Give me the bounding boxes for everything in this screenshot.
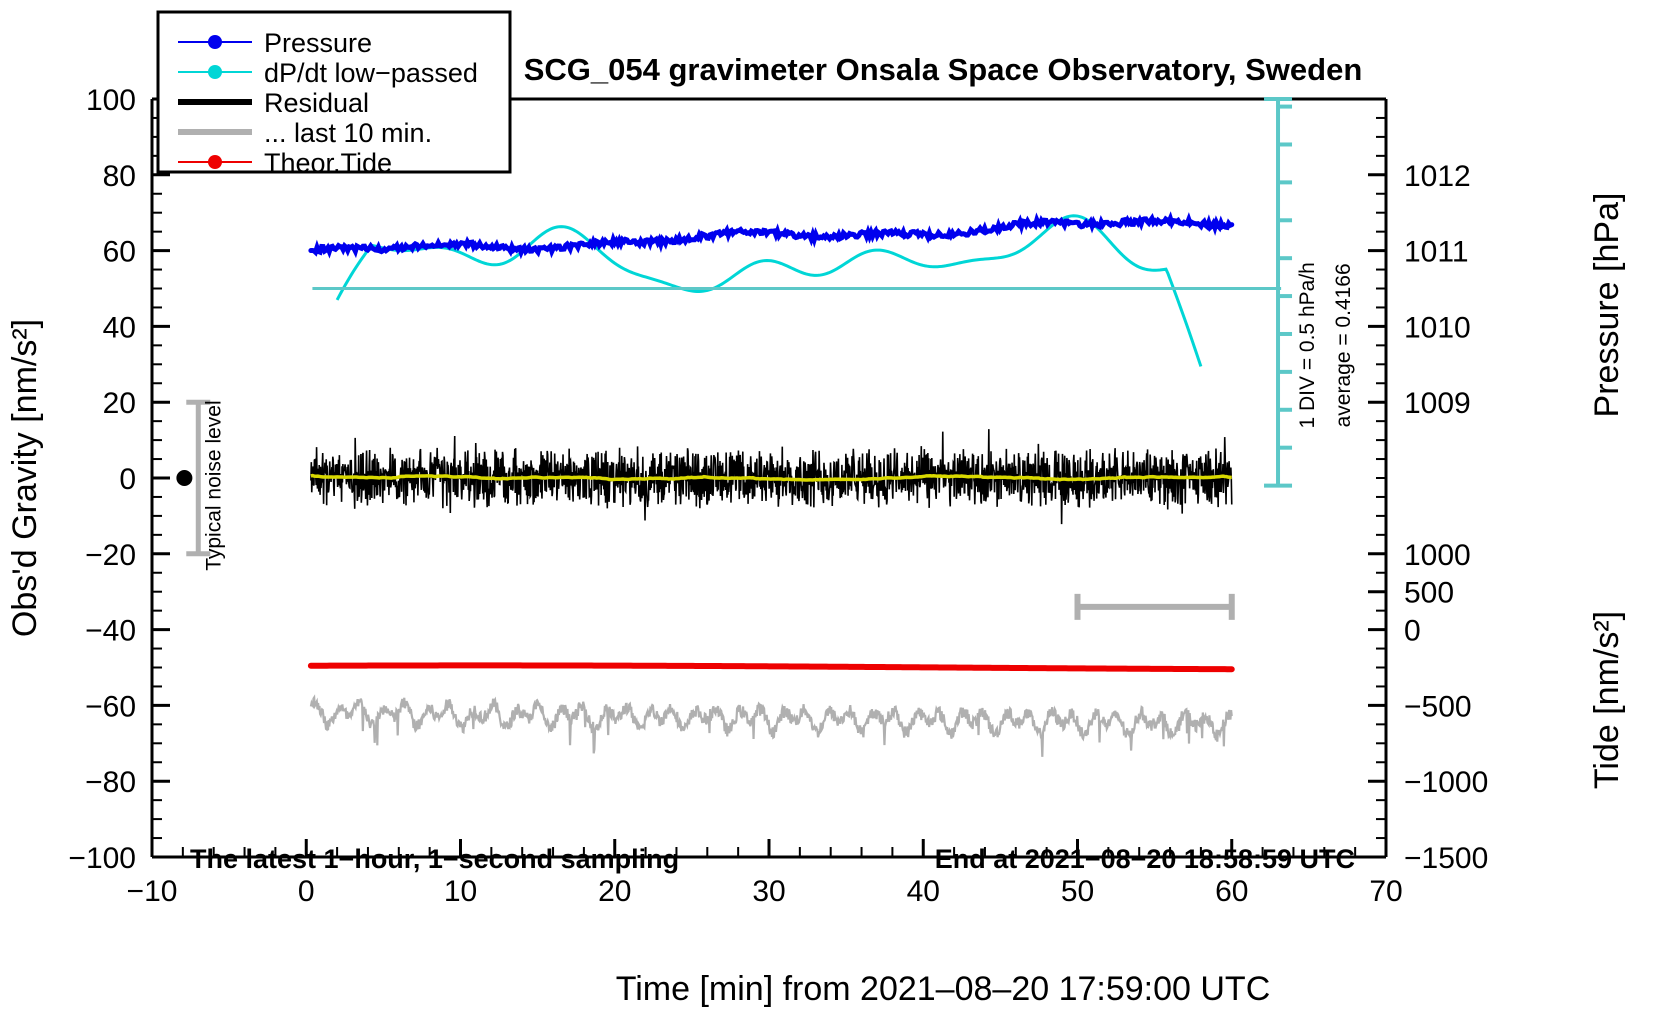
legend-swatch-dot — [208, 65, 222, 79]
y-axis-title-left: Obs'd Gravity [nm/s²] — [6, 319, 44, 637]
left-tick-label: −60 — [85, 690, 136, 723]
dpdt-average-label: average = 0.4166 — [1332, 263, 1355, 427]
left-tick-label: −20 — [85, 539, 136, 572]
pressure-tick-label: 1012 — [1404, 160, 1471, 193]
page-title: SCG_054 gravimeter Onsala Space Observat… — [524, 52, 1363, 87]
dpdt-division-label: 1 DIV = 0.5 hPa/h — [1296, 262, 1319, 428]
left-tick-label: −80 — [85, 766, 136, 799]
left-tick-label: 0 — [119, 463, 136, 496]
bottom-tick-label: 10 — [444, 875, 477, 908]
bottom-left-note: The latest 1−hour, 1−second sampling — [190, 844, 679, 874]
legend[interactable]: PressuredP/dt low−passedResidual... last… — [158, 12, 510, 178]
left-tick-label: 100 — [86, 84, 136, 117]
left-tick-label: 80 — [103, 160, 136, 193]
legend-item-label: Pressure — [264, 28, 372, 58]
legend-item-label: Residual — [264, 88, 369, 118]
y-axis-title-pressure: Pressure [hPa] — [1588, 193, 1626, 418]
bottom-tick-label: 40 — [907, 875, 940, 908]
left-tick-label: 20 — [103, 387, 136, 420]
bottom-right-note: End at 2021−08−20 18:58:59 UTC — [935, 844, 1355, 874]
bottom-tick-label: 60 — [1215, 875, 1248, 908]
pressure-tick-label: 1011 — [1404, 236, 1469, 269]
bottom-tick-label: 20 — [598, 875, 631, 908]
left-tick-label: 60 — [103, 236, 136, 269]
left-tick-label: −40 — [85, 615, 136, 648]
legend-swatch-dot — [208, 35, 222, 49]
noise-level-center-dot — [176, 470, 192, 486]
tide-tick-label: 1000 — [1404, 539, 1471, 572]
tide-tick-label: 500 — [1404, 577, 1454, 610]
bottom-tick-label: 70 — [1369, 875, 1402, 908]
left-tick-label: 40 — [103, 311, 136, 344]
tide-tick-label: 0 — [1404, 615, 1421, 648]
typical-noise-level-label: Typical noise level — [202, 400, 225, 570]
x-axis-title: Time [min] from 2021–08–20 17:59:00 UTC — [616, 970, 1271, 1008]
tide-tick-label: −500 — [1404, 690, 1472, 723]
bottom-tick-label: −10 — [127, 875, 178, 908]
legend-swatch-dot — [208, 155, 222, 169]
gravity-pressure-tide-chart: −100−80−60−40−20020406080100 −1001020304… — [0, 0, 1660, 1020]
bottom-tick-label: 50 — [1061, 875, 1094, 908]
tide-tick-label: −1500 — [1404, 842, 1488, 875]
gravimeter-plot-page: −100−80−60−40−20020406080100 −1001020304… — [0, 0, 1660, 1020]
legend-item-label: dP/dt low−passed — [264, 58, 478, 88]
tide-tick-label: −1000 — [1404, 766, 1488, 799]
legend-item-label: Theor.Tide — [264, 148, 392, 178]
bottom-tick-label: 0 — [298, 875, 315, 908]
bottom-tick-label: 30 — [752, 875, 785, 908]
left-tick-label: −100 — [68, 842, 136, 875]
pressure-tick-label: 1010 — [1404, 311, 1471, 344]
pressure-tick-label: 1009 — [1404, 387, 1471, 420]
legend-item-label: ... last 10 min. — [264, 118, 432, 148]
y-axis-title-tide: Tide [nm/s²] — [1588, 611, 1626, 789]
